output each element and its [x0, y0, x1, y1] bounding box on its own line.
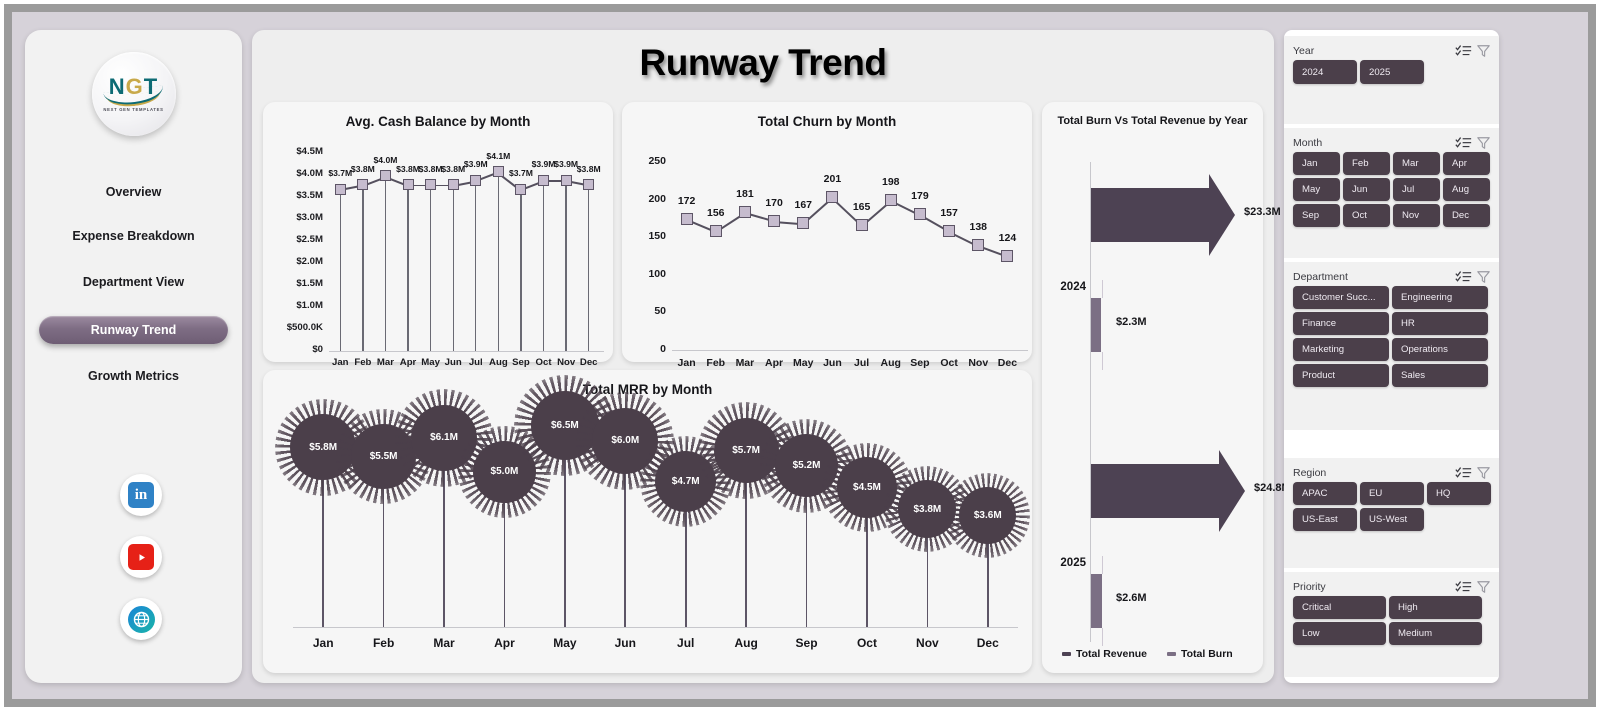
data-stem: [385, 176, 386, 351]
page-title: Runway Trend: [252, 42, 1274, 84]
filter-chip[interactable]: Customer Succ...: [1293, 286, 1389, 309]
y-axis-tick: 50: [624, 305, 666, 317]
x-axis-tick: Oct: [933, 357, 965, 369]
burn-bar: [1091, 574, 1102, 628]
data-stem: [453, 185, 454, 351]
x-axis-tick: Jun: [816, 357, 848, 369]
legend-swatch: [1167, 652, 1176, 656]
filter-group-title: Year: [1293, 45, 1451, 57]
multi-select-icon[interactable]: [1455, 44, 1472, 58]
legend-swatch: [1062, 652, 1071, 656]
screenshot-frame: NGT NEXT GEN TEMPLATES Overview Expense …: [0, 0, 1600, 711]
y-axis-tick: $0: [265, 344, 323, 355]
sidebar-item-label: Runway Trend: [91, 323, 176, 337]
youtube-icon[interactable]: [120, 536, 162, 578]
y-axis-tick: $1.0M: [265, 300, 323, 311]
data-marker: [681, 213, 693, 225]
filter-group-header: Month: [1293, 134, 1493, 152]
logo-badge: NGT NEXT GEN TEMPLATES: [92, 52, 176, 136]
chart-card-burn-vs-revenue: Total Burn Vs Total Revenue by Year 2024…: [1042, 102, 1263, 673]
x-axis-tick: Dec: [991, 357, 1023, 369]
multi-select-icon[interactable]: [1455, 580, 1472, 594]
data-marker: [797, 217, 809, 229]
chart-title: Total Churn by Month: [622, 114, 1032, 129]
filter-chip-list: 20242025: [1293, 60, 1493, 84]
x-axis-tick: Jul: [846, 357, 878, 369]
data-stem: [543, 180, 544, 351]
filter-chip[interactable]: Product: [1293, 364, 1389, 387]
filter-chip[interactable]: Mar: [1393, 152, 1440, 175]
filter-chip[interactable]: Jan: [1293, 152, 1340, 175]
data-marker: [538, 175, 549, 186]
legend-label: Total Burn: [1181, 648, 1233, 660]
x-axis-tick: Feb: [358, 636, 410, 650]
x-axis-tick: Jan: [297, 636, 349, 650]
filter-chip[interactable]: Finance: [1293, 312, 1389, 335]
y-axis-tick: $1.5M: [265, 278, 323, 289]
filter-chip[interactable]: Oct: [1343, 204, 1390, 227]
funnel-icon[interactable]: [1476, 580, 1493, 594]
data-marker: [768, 215, 780, 227]
data-label: 198: [869, 176, 913, 188]
data-label: 172: [665, 195, 709, 207]
x-axis-line: [329, 351, 604, 352]
filter-group-department: DepartmentCustomer Succ...EngineeringFin…: [1284, 262, 1499, 430]
youtube-glyph: [128, 544, 154, 570]
x-axis-tick: Jan: [671, 357, 703, 369]
filter-chip[interactable]: US-East: [1293, 508, 1357, 531]
chart-card-cash-balance: Avg. Cash Balance by Month $4.5M$4.0M$3.…: [263, 102, 613, 362]
x-axis-tick: Nov: [962, 357, 994, 369]
data-label: $3.8M: [567, 164, 611, 174]
data-marker: [826, 191, 838, 203]
filter-chip-list: Customer Succ...EngineeringFinanceHRMark…: [1293, 286, 1493, 387]
filter-chip[interactable]: Apr: [1443, 152, 1490, 175]
x-axis-tick: Aug: [875, 357, 907, 369]
x-axis-tick: Sep: [781, 636, 833, 650]
x-axis-tick: Apr: [478, 636, 530, 650]
x-axis-tick: Apr: [758, 357, 790, 369]
chart-card-total-churn: Total Churn by Month 250200150100500172J…: [622, 102, 1032, 362]
filter-chip[interactable]: Sales: [1392, 364, 1488, 387]
filter-group-year: Year20242025: [1284, 36, 1499, 124]
filter-chip[interactable]: Jun: [1343, 178, 1390, 201]
sidebar: NGT NEXT GEN TEMPLATES Overview Expense …: [25, 30, 242, 683]
sidebar-item-runway-trend[interactable]: Runway Trend: [39, 316, 228, 344]
revenue-value-label: $23.3M: [1244, 206, 1281, 218]
revenue-arrow-body: [1091, 188, 1209, 242]
filter-group-header: Priority: [1293, 578, 1493, 596]
filter-chip[interactable]: HR: [1392, 312, 1488, 335]
filter-chip[interactable]: Operations: [1392, 338, 1488, 361]
chart-title: Total MRR by Month: [263, 382, 1032, 397]
filter-chip[interactable]: APAC: [1293, 482, 1357, 505]
data-marker: [914, 208, 926, 220]
frame-border: NGT NEXT GEN TEMPLATES Overview Expense …: [4, 4, 1596, 707]
data-stem: [340, 189, 341, 351]
y-axis-tick: 2024: [1046, 281, 1086, 293]
logo-tagline: NEXT GEN TEMPLATES: [103, 107, 163, 112]
filter-chip[interactable]: Jul: [1393, 178, 1440, 201]
data-marker: [403, 179, 414, 190]
data-stem: [430, 185, 431, 351]
filter-group-title: Department: [1293, 271, 1451, 283]
legend-item-total-revenue: Total Revenue: [1062, 648, 1147, 660]
x-axis-tick: Dec: [573, 357, 605, 368]
chart-card-total-mrr: Total MRR by Month $5.8MJan$5.5MFeb$6.1M…: [263, 370, 1032, 673]
x-axis-line: [672, 350, 1028, 351]
y-axis-tick: 200: [624, 193, 666, 205]
filter-chip[interactable]: 2025: [1360, 60, 1424, 84]
data-label: $3.8M: [341, 164, 385, 174]
data-marker: [856, 219, 868, 231]
filter-group-header: Region: [1293, 464, 1493, 482]
dashboard-canvas: NGT NEXT GEN TEMPLATES Overview Expense …: [12, 12, 1596, 707]
funnel-icon[interactable]: [1476, 270, 1493, 284]
sidebar-item-expense-breakdown[interactable]: Expense Breakdown: [39, 222, 228, 250]
web-icon[interactable]: [120, 598, 162, 640]
filter-chip[interactable]: Medium: [1389, 622, 1482, 645]
y-axis-tick: $500.0K: [265, 322, 323, 333]
multi-select-icon[interactable]: [1455, 136, 1472, 150]
sidebar-item-overview[interactable]: Overview: [39, 178, 228, 206]
y-axis-tick: 250: [624, 155, 666, 167]
y-axis-tick: 150: [624, 230, 666, 242]
data-label: 124: [985, 232, 1029, 244]
filter-group-title: Region: [1293, 467, 1451, 479]
data-label: 201: [810, 173, 854, 185]
x-axis-tick: Sep: [904, 357, 936, 369]
burn-tick: [1102, 352, 1103, 370]
y-axis-tick: $2.5M: [265, 234, 323, 245]
filter-group-priority: PriorityCriticalHighLowMedium: [1284, 572, 1499, 677]
filter-group-title: Priority: [1293, 581, 1451, 593]
globe-glyph: [128, 606, 155, 633]
filter-chip[interactable]: Dec: [1443, 204, 1490, 227]
filter-chip[interactable]: Marketing: [1293, 338, 1389, 361]
x-axis-tick: May: [787, 357, 819, 369]
x-axis-tick: Mar: [729, 357, 761, 369]
y-axis-tick: $3.0M: [265, 212, 323, 223]
x-axis-line: [293, 627, 1018, 628]
filter-chip-list: CriticalHighLowMedium: [1293, 596, 1493, 645]
burn-bar: [1091, 298, 1101, 352]
filter-group-title: Month: [1293, 137, 1451, 149]
data-stem: [565, 180, 566, 351]
filter-chip[interactable]: Engineering: [1392, 286, 1488, 309]
filter-chip[interactable]: High: [1389, 596, 1482, 619]
filter-group-region: RegionAPACEUHQUS-EastUS-West: [1284, 458, 1499, 568]
data-label: 157: [927, 207, 971, 219]
funnel-icon[interactable]: [1476, 136, 1493, 150]
filter-panel: Year20242025MonthJanFebMarAprMayJunJulAu…: [1284, 30, 1499, 683]
data-stem: [475, 180, 476, 351]
y-axis-tick: $3.5M: [265, 190, 323, 201]
burn-tick: [1102, 556, 1103, 574]
filter-chip[interactable]: May: [1293, 178, 1340, 201]
data-stem: [588, 185, 589, 351]
y-axis-tick: $2.0M: [265, 256, 323, 267]
data-label: 167: [781, 199, 825, 211]
sidebar-item-department-view[interactable]: Department View: [39, 268, 228, 296]
data-label: $4.1M: [476, 151, 520, 161]
data-label: $3.9M: [454, 159, 498, 169]
legend-item-total-burn: Total Burn: [1167, 648, 1233, 660]
x-axis-tick: Jun: [599, 636, 651, 650]
data-marker: [1001, 250, 1013, 262]
data-marker: [710, 225, 722, 237]
sidebar-item-label: Expense Breakdown: [72, 229, 194, 243]
multi-select-icon[interactable]: [1455, 270, 1472, 284]
filter-group-header: Year: [1293, 42, 1493, 60]
data-marker: [583, 179, 594, 190]
y-axis-tick: 2025: [1046, 557, 1086, 569]
burn-tick: [1102, 280, 1103, 298]
data-marker: [561, 175, 572, 186]
revenue-arrow-head: [1209, 174, 1235, 256]
revenue-arrow-body: [1091, 464, 1219, 518]
data-marker: [448, 179, 459, 190]
data-stem: [407, 185, 408, 351]
y-axis-tick: $4.5M: [265, 146, 323, 157]
filter-chip[interactable]: US-West: [1360, 508, 1424, 531]
filter-chip[interactable]: Aug: [1443, 178, 1490, 201]
logo-letters: NGT: [109, 76, 158, 98]
x-axis-tick: Jul: [660, 636, 712, 650]
funnel-icon[interactable]: [1476, 44, 1493, 58]
y-axis-tick: $4.0M: [265, 168, 323, 179]
filter-chip[interactable]: 2024: [1293, 60, 1357, 84]
data-marker: [943, 225, 955, 237]
y-axis-tick: 0: [624, 343, 666, 355]
filter-chip[interactable]: Sep: [1293, 204, 1340, 227]
linkedin-icon[interactable]: in: [120, 474, 162, 516]
data-stem: [520, 189, 521, 351]
data-marker: [335, 184, 346, 195]
filter-chip[interactable]: Feb: [1343, 152, 1390, 175]
filter-chip[interactable]: Low: [1293, 622, 1386, 645]
data-stem: [362, 185, 363, 351]
filter-chip-list: APACEUHQUS-EastUS-West: [1293, 482, 1493, 531]
data-marker: [972, 239, 984, 251]
filter-chip-list: JanFebMarAprMayJunJulAugSepOctNovDec: [1293, 152, 1493, 227]
chart-title: Avg. Cash Balance by Month: [263, 114, 613, 129]
data-label: 156: [694, 207, 738, 219]
x-axis-tick: Nov: [901, 636, 953, 650]
y-axis-tick: 100: [624, 268, 666, 280]
x-axis-tick: Oct: [841, 636, 893, 650]
filter-group-month: MonthJanFebMarAprMayJunJulAugSepOctNovDe…: [1284, 128, 1499, 258]
data-label: $3.7M: [499, 168, 543, 178]
sidebar-item-growth-metrics[interactable]: Growth Metrics: [39, 362, 228, 390]
filter-chip[interactable]: EU: [1360, 482, 1424, 505]
burn-value-label: $2.3M: [1116, 316, 1147, 328]
x-axis-tick: Feb: [700, 357, 732, 369]
x-axis-tick: May: [539, 636, 591, 650]
x-axis-tick: Aug: [720, 636, 772, 650]
data-marker: [885, 194, 897, 206]
revenue-arrow-head: [1219, 450, 1245, 532]
x-axis-tick: Mar: [418, 636, 470, 650]
data-marker: [739, 206, 751, 218]
data-marker: [357, 179, 368, 190]
data-label: 179: [898, 190, 942, 202]
sidebar-item-label: Department View: [83, 275, 184, 289]
filter-chip[interactable]: HQ: [1427, 482, 1491, 505]
data-marker: [515, 184, 526, 195]
data-marker: [425, 179, 436, 190]
data-label: 165: [840, 201, 884, 213]
data-point-label: $3.6M: [959, 487, 1016, 544]
funnel-icon[interactable]: [1476, 466, 1493, 480]
filter-group-header: Department: [1293, 268, 1493, 286]
burn-tick: [1102, 628, 1103, 646]
linkedin-glyph: in: [128, 482, 154, 508]
filter-chip[interactable]: Critical: [1293, 596, 1386, 619]
data-stem: [498, 172, 499, 351]
legend-label: Total Revenue: [1076, 648, 1147, 660]
x-axis-tick: Dec: [962, 636, 1014, 650]
data-marker: [470, 175, 481, 186]
main-panel: Runway Trend Avg. Cash Balance by Month …: [252, 30, 1274, 683]
burn-value-label: $2.6M: [1116, 592, 1147, 604]
sidebar-item-label: Growth Metrics: [88, 369, 179, 383]
filter-chip[interactable]: Nov: [1393, 204, 1440, 227]
chart-title: Total Burn Vs Total Revenue by Year: [1042, 114, 1263, 129]
sidebar-item-label: Overview: [106, 185, 162, 199]
multi-select-icon[interactable]: [1455, 466, 1472, 480]
